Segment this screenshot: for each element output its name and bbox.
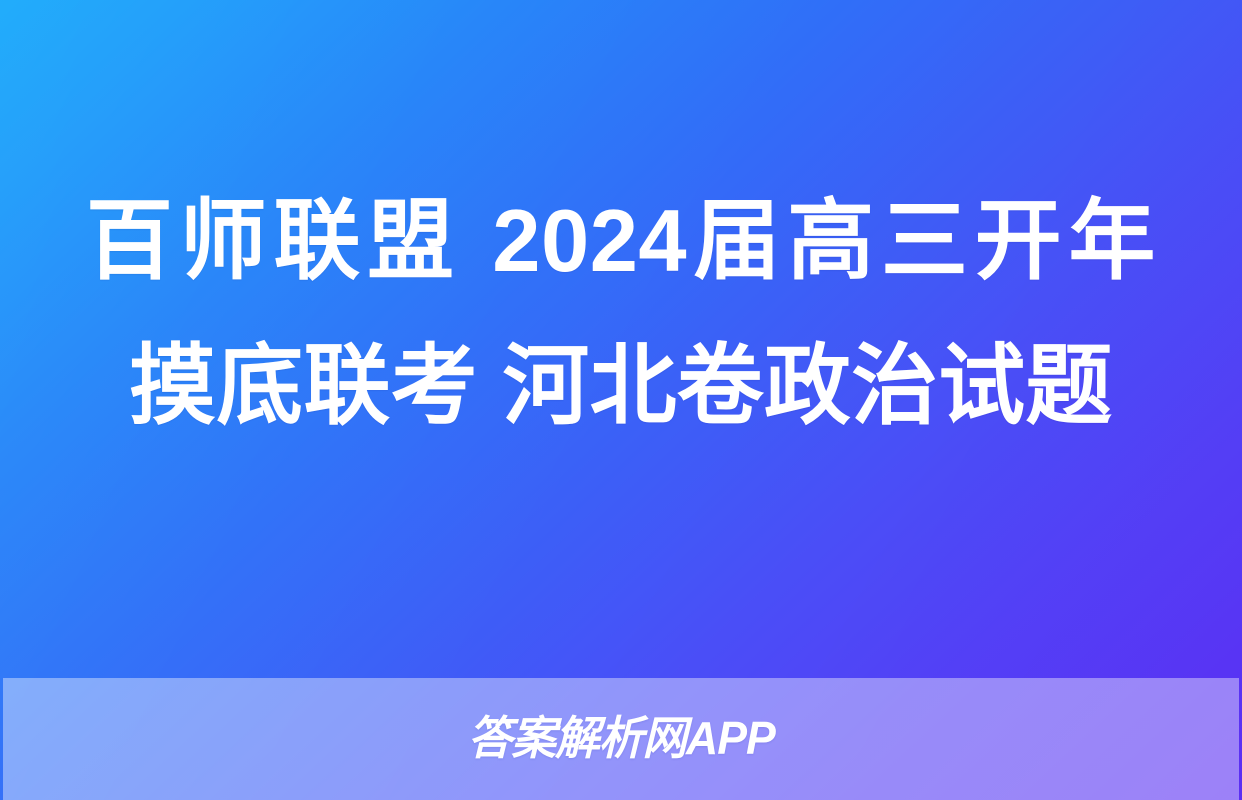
exam-cover-screen: 百师联盟 2024届高三开年摸底联考 河北卷政治试题 答案解析网APP bbox=[0, 0, 1242, 800]
page-title: 百师联盟 2024届高三开年摸底联考 河北卷政治试题 bbox=[86, 168, 1156, 458]
title-block: 百师联盟 2024届高三开年摸底联考 河北卷政治试题 bbox=[78, 168, 1164, 458]
watermark-label: 答案解析网APP bbox=[467, 715, 774, 761]
watermark-band: 答案解析网APP bbox=[3, 678, 1239, 800]
